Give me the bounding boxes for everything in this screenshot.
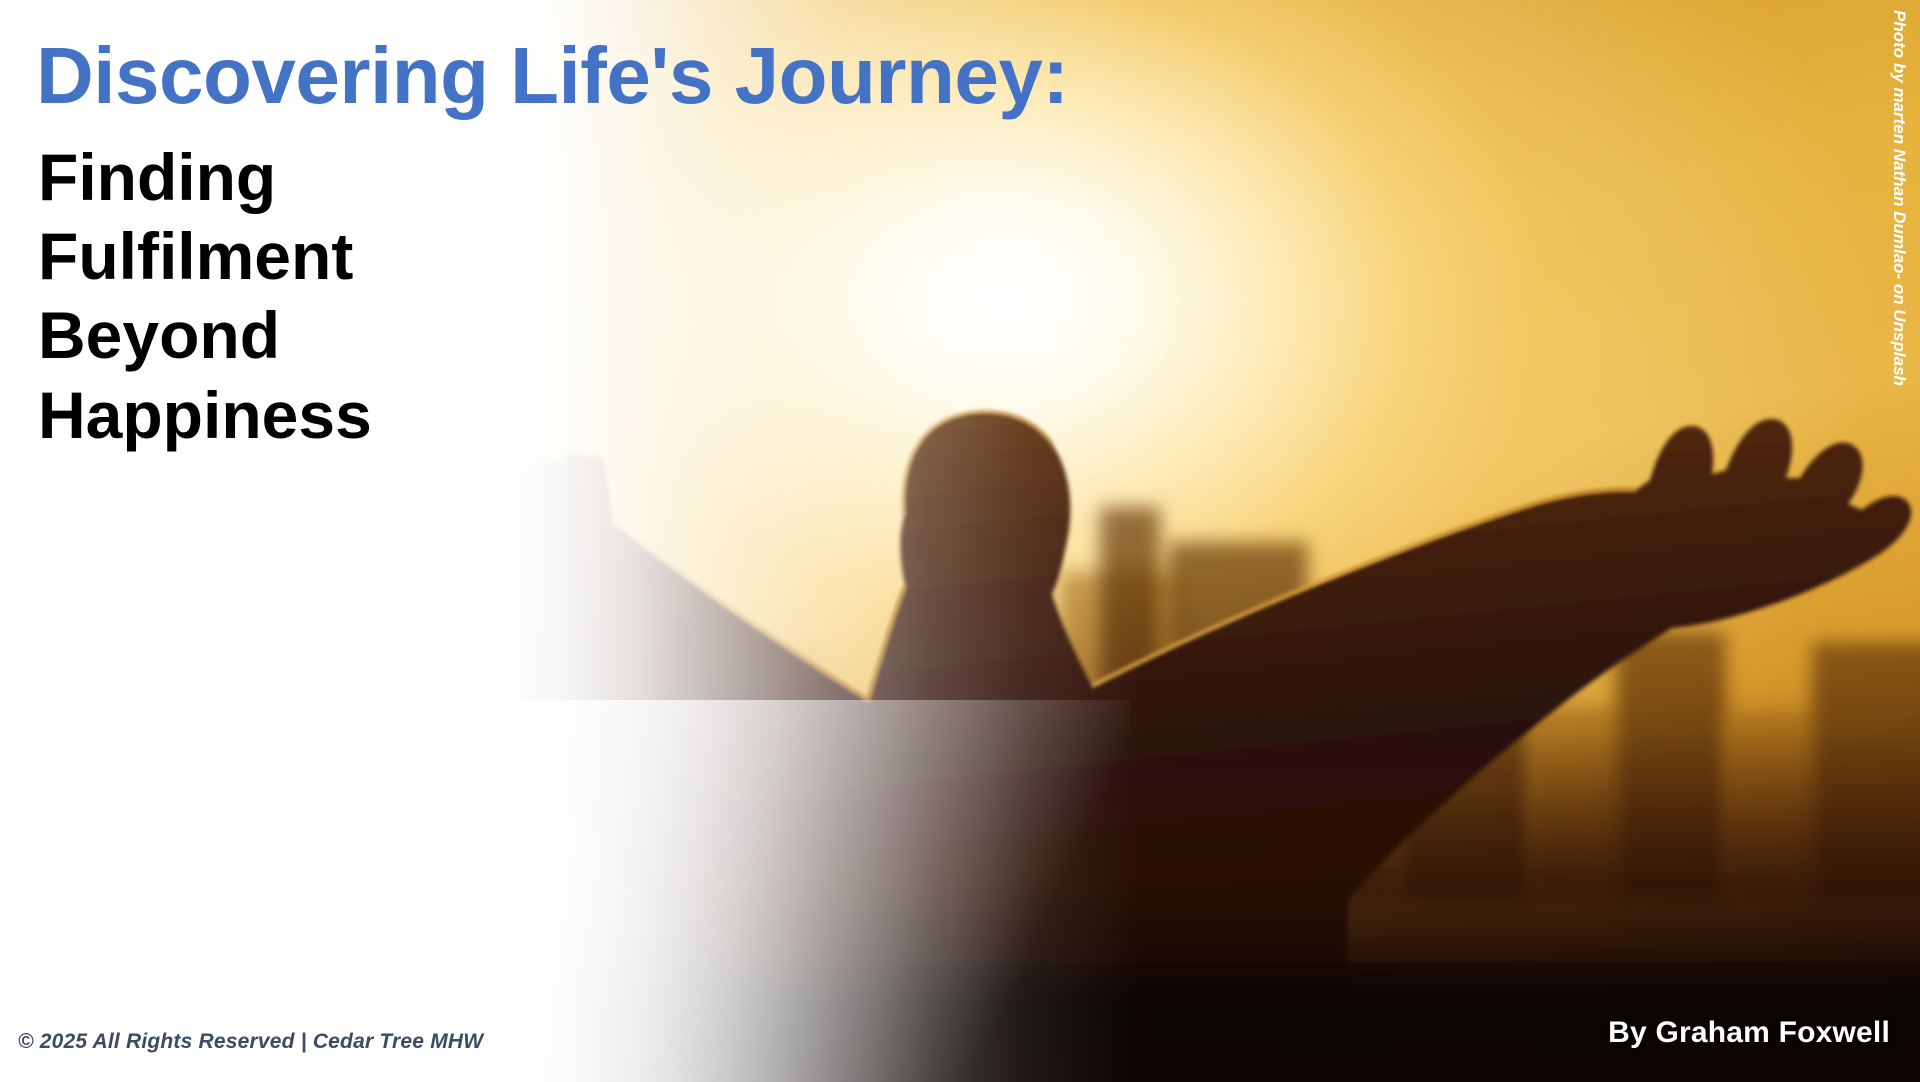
- page-subtitle: Finding Fulfilment Beyond Happiness: [38, 138, 468, 455]
- photo-credit-label: Photo by marten Nathan Dumlao- on Unspla…: [1889, 10, 1909, 440]
- copyright-notice: © 2025 All Rights Reserved | Cedar Tree …: [18, 1030, 483, 1054]
- page-title: Discovering Life's Journey:: [36, 36, 1536, 116]
- presentation-slide: Discovering Life's Journey: Finding Fulf…: [0, 0, 1920, 1082]
- photo-credit: Photo by marten Nathan Dumlao- on Unspla…: [1886, 10, 1912, 450]
- author-byline: By Graham Foxwell: [1608, 1016, 1890, 1050]
